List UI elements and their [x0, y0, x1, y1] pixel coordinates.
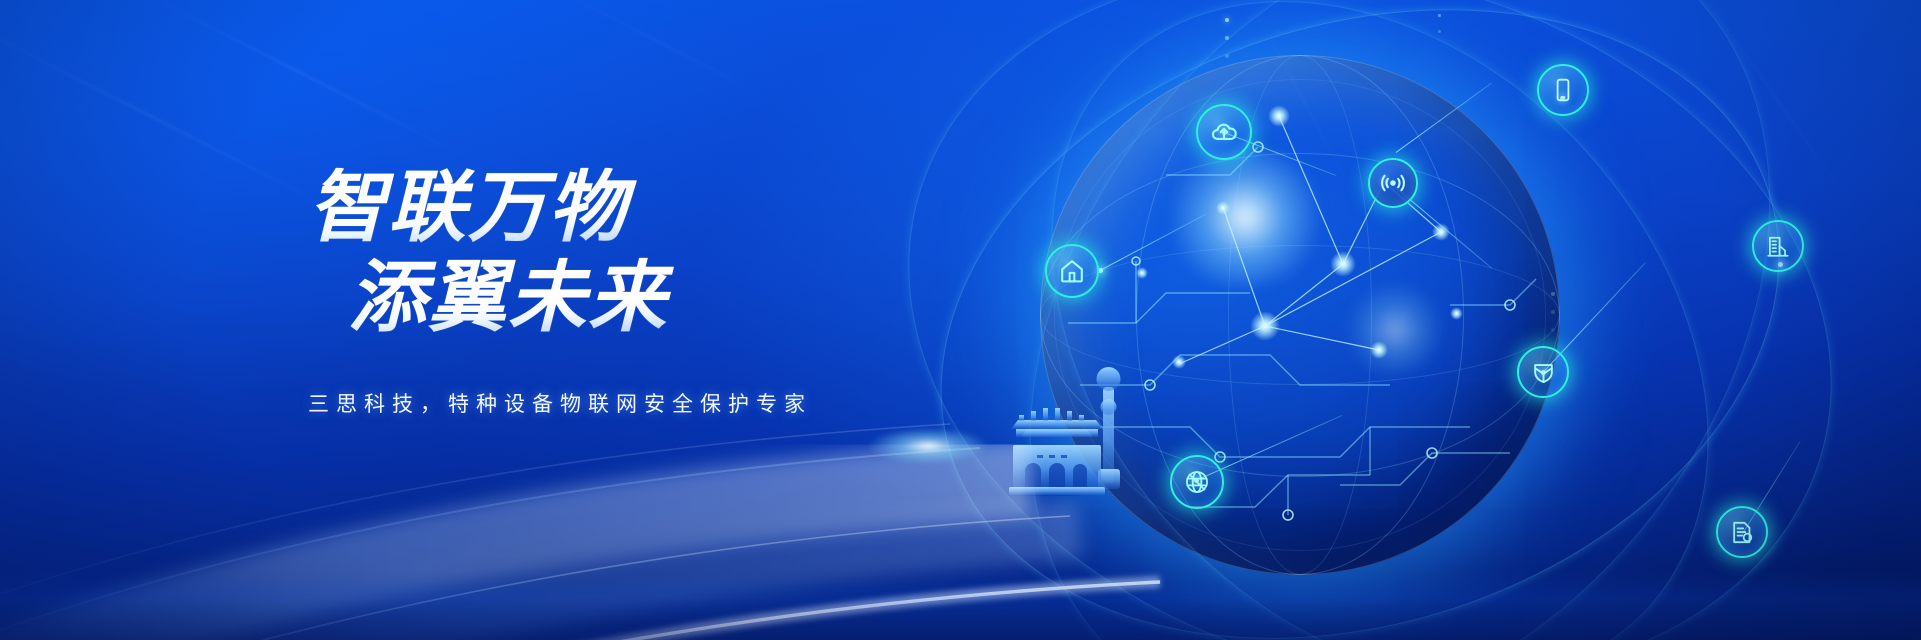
- node-mobile-phone[interactable]: [1537, 64, 1589, 116]
- node-wifi-signal[interactable]: [1368, 158, 1418, 208]
- node-shield[interactable]: [1517, 346, 1569, 398]
- node-document-report[interactable]: [1716, 506, 1768, 558]
- hero-subtitle: 三思科技，特种设备物联网安全保护专家: [308, 388, 1000, 418]
- node-building[interactable]: [1752, 220, 1804, 272]
- mobile-phone-icon: [1550, 77, 1576, 103]
- shield-icon: [1530, 359, 1557, 386]
- hero-banner: 智联万物 添翼未来 三思科技，特种设备物联网安全保护专家: [0, 0, 1921, 640]
- document-report-icon: [1729, 519, 1756, 546]
- hero-copy: 智联万物 添翼未来 三思科技，特种设备物联网安全保护专家: [300, 168, 1000, 418]
- wifi-signal-icon: [1379, 169, 1407, 197]
- node-cloud-upload[interactable]: [1196, 104, 1252, 160]
- trail-flare: [868, 428, 988, 464]
- headline-line-1: 智联万物: [308, 168, 1000, 246]
- building-icon: [1765, 233, 1791, 259]
- cloud-upload-icon: [1209, 117, 1239, 147]
- bottom-reflection: [0, 570, 1921, 640]
- headline-line-2: 添翼未来: [348, 258, 1000, 336]
